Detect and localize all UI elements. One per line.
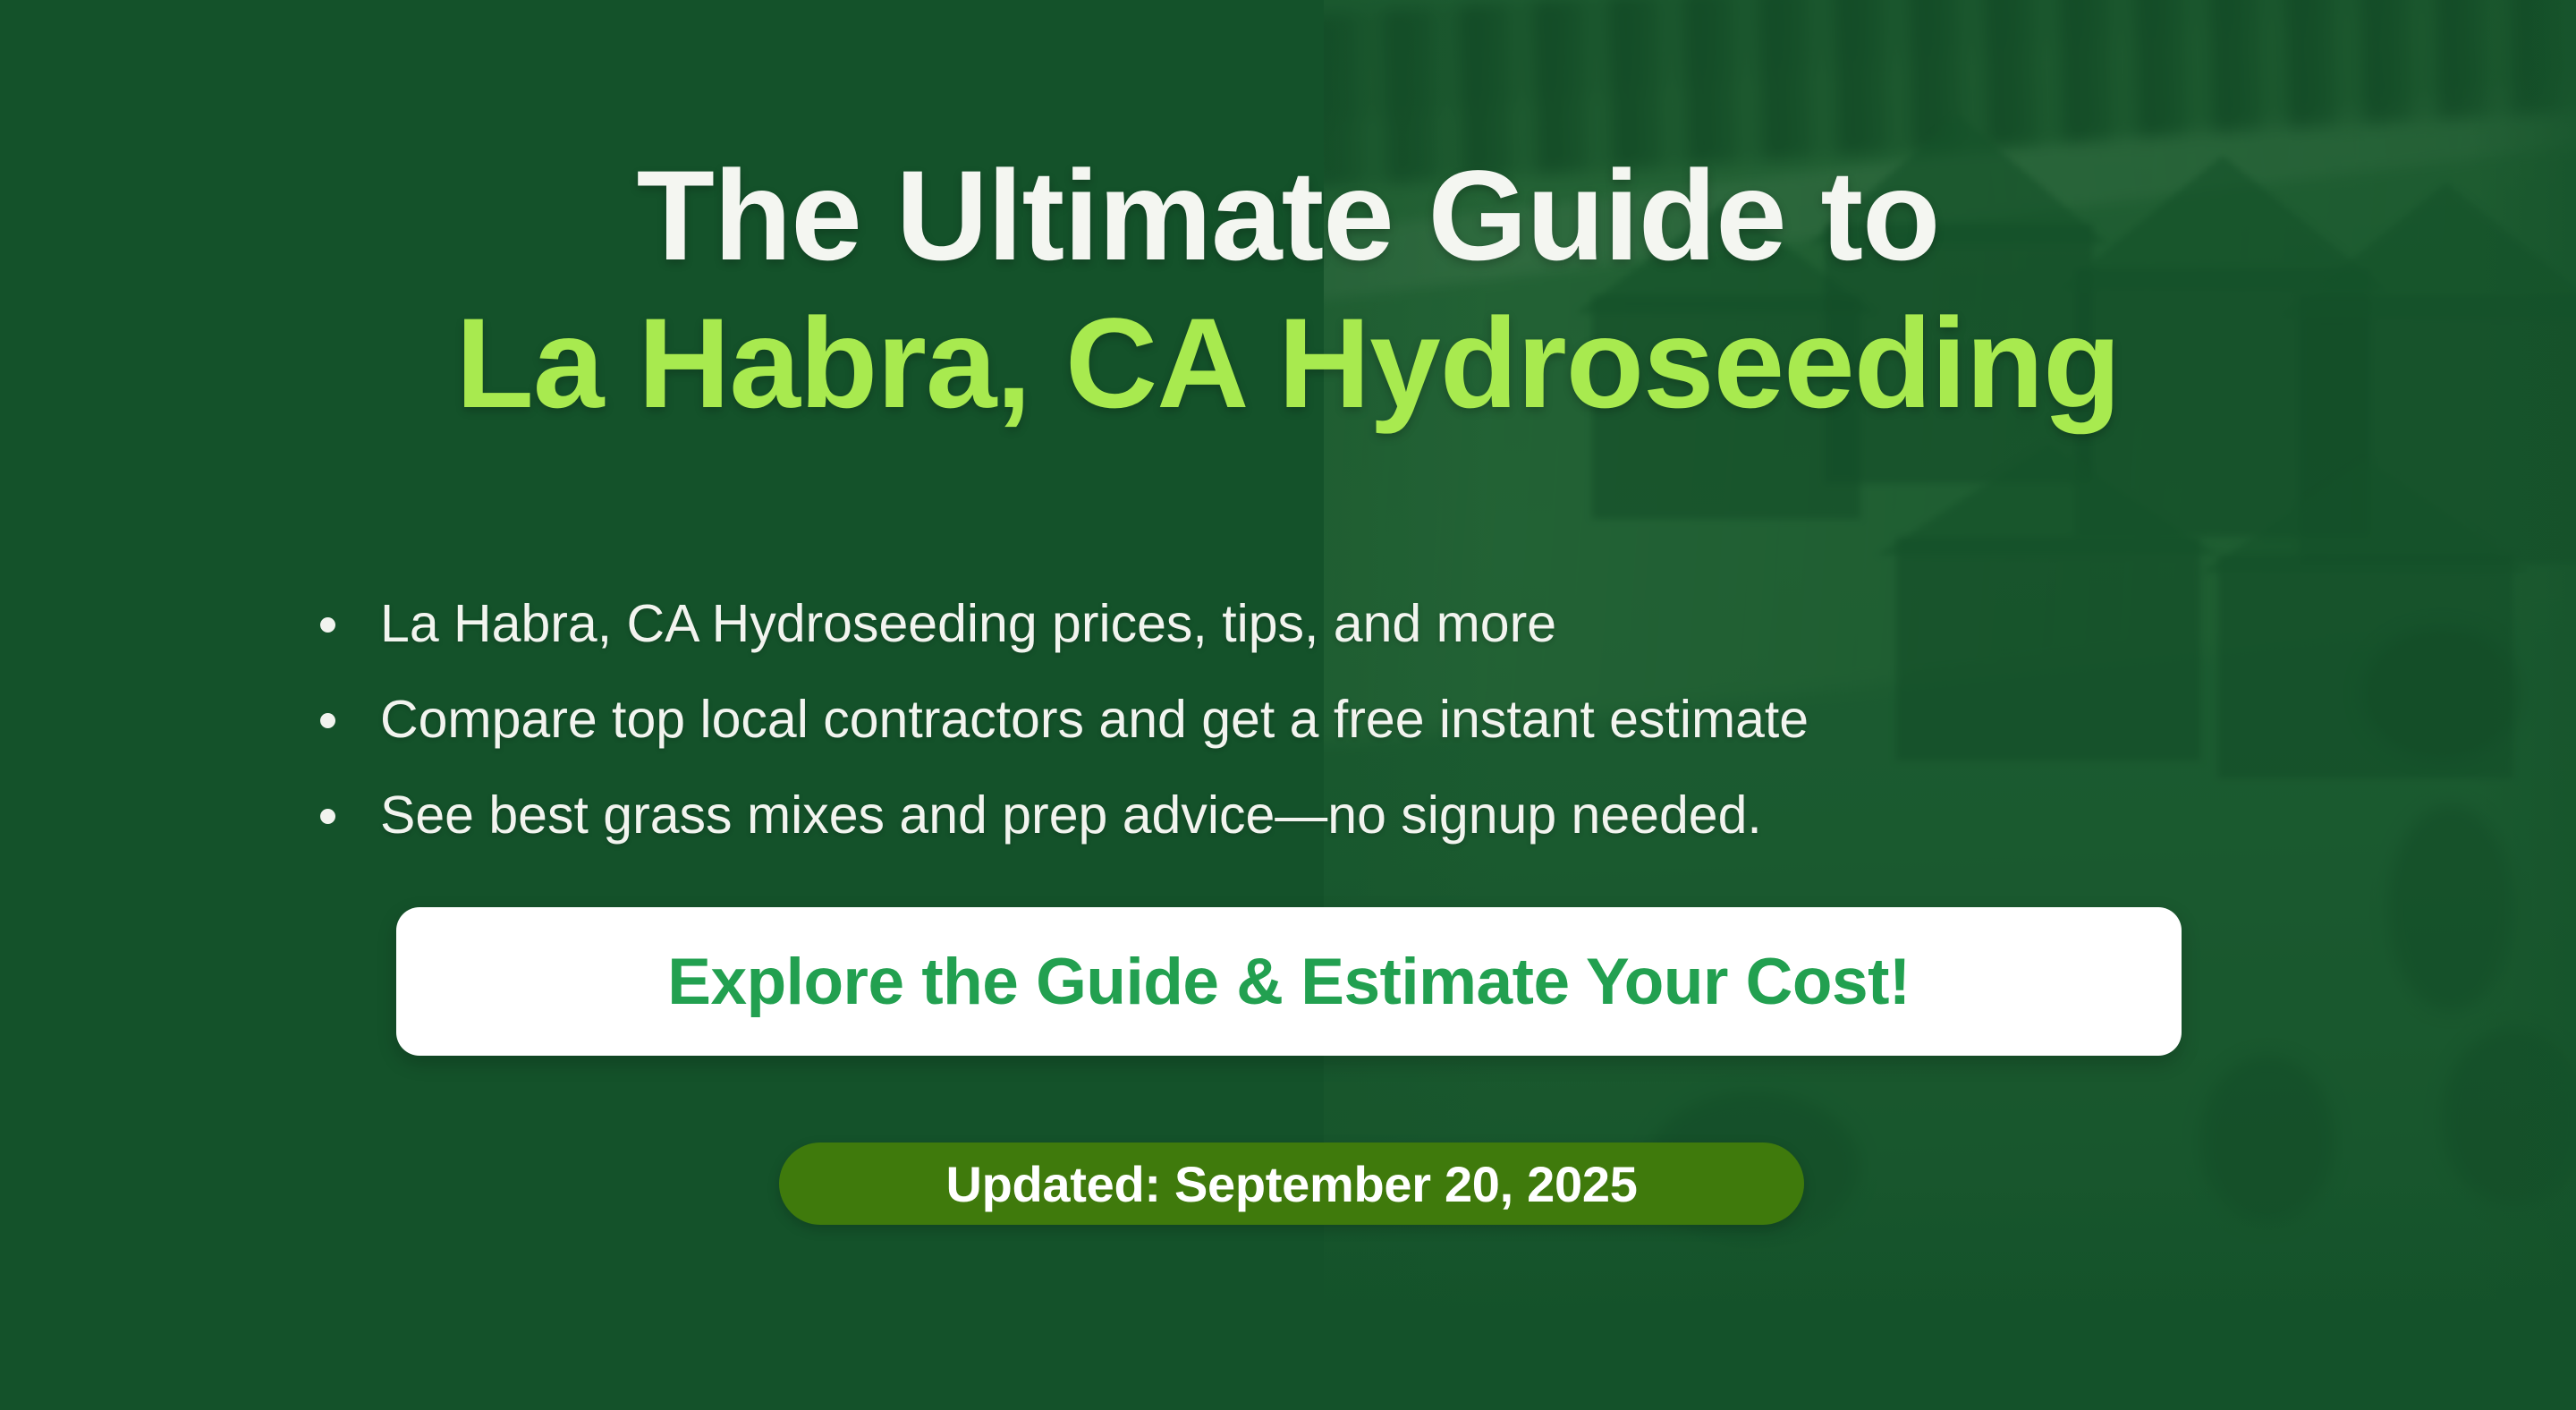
hero-content: The Ultimate Guide to La Habra, CA Hydro…	[0, 0, 2576, 1410]
bullet-dot-icon	[320, 809, 335, 824]
explore-guide-button-label: Explore the Guide & Estimate Your Cost!	[667, 945, 1910, 1019]
headline-line-accent: La Habra, CA Hydroseeding	[0, 300, 2576, 428]
list-item-label: Compare top local contractors and get a …	[380, 672, 1809, 768]
list-item: See best grass mixes and prep advice—no …	[320, 768, 1809, 863]
bullet-dot-icon	[320, 617, 335, 633]
bullet-dot-icon	[320, 713, 335, 728]
benefits-list: La Habra, CA Hydroseeding prices, tips, …	[320, 576, 1809, 863]
updated-date-badge: Updated: September 20, 2025	[779, 1142, 1804, 1225]
explore-guide-button[interactable]: Explore the Guide & Estimate Your Cost!	[396, 907, 2182, 1056]
list-item: Compare top local contractors and get a …	[320, 672, 1809, 768]
hero-banner: The Ultimate Guide to La Habra, CA Hydro…	[0, 0, 2576, 1410]
list-item-label: See best grass mixes and prep advice—no …	[380, 768, 1762, 863]
list-item-label: La Habra, CA Hydroseeding prices, tips, …	[380, 576, 1556, 672]
list-item: La Habra, CA Hydroseeding prices, tips, …	[320, 576, 1809, 672]
page-title: The Ultimate Guide to La Habra, CA Hydro…	[0, 152, 2576, 428]
updated-date-label: Updated: September 20, 2025	[945, 1155, 1637, 1213]
headline-line-primary: The Ultimate Guide to	[0, 152, 2576, 300]
